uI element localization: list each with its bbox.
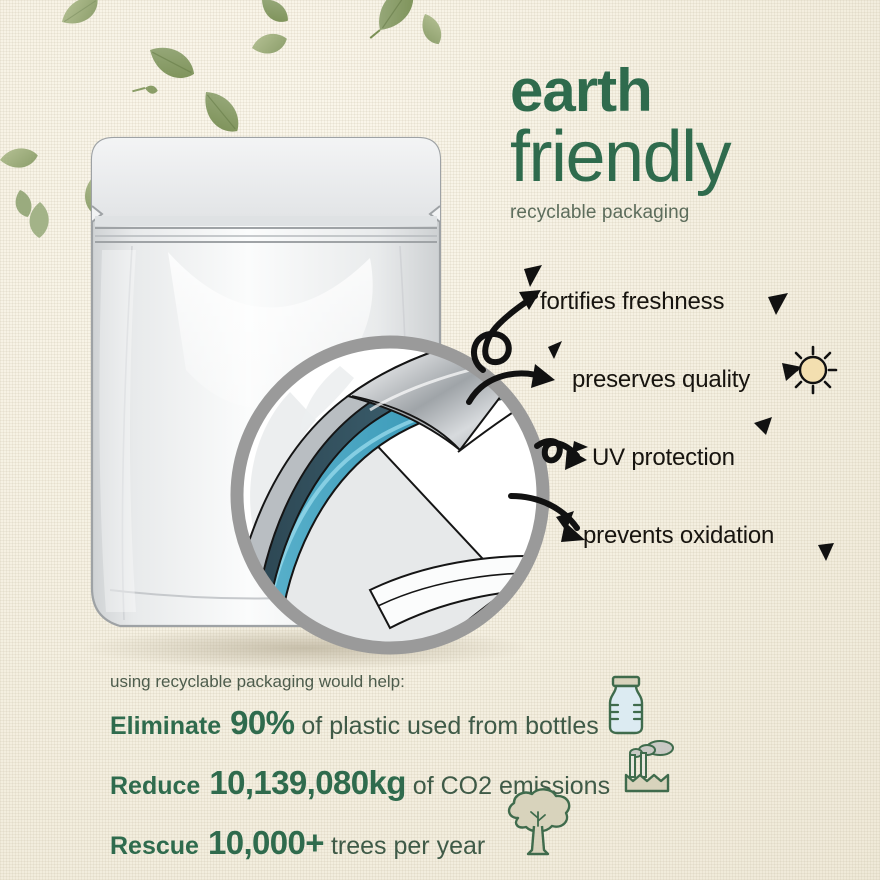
stat-number: 10,000+: [208, 824, 324, 862]
tick-mark: [818, 543, 834, 561]
subtitle: recyclable packaging: [510, 202, 870, 224]
stat-row: Rescue 10,000+ trees per year: [110, 824, 750, 862]
feature-label-preserves-quality: preserves quality: [572, 366, 750, 394]
sun-icon: [782, 342, 844, 404]
leaf-icon: [365, 0, 421, 48]
factory-icon: [616, 737, 682, 793]
stat-tail: trees per year: [331, 832, 485, 861]
leaf-icon: [0, 145, 39, 170]
tick-mark: [768, 293, 788, 315]
leaf-icon: [256, 0, 293, 27]
stat-verb: Reduce: [110, 772, 200, 801]
stat-number: 90%: [230, 704, 294, 742]
feature-label-prevents-oxidation: prevents oxidation: [583, 522, 774, 550]
stat-verb: Eliminate: [110, 712, 221, 741]
leaf-icon: [57, 0, 103, 32]
stats-lead: using recyclable packaging would help:: [110, 672, 750, 692]
feature-label-fortifies-freshness: fortifies freshness: [540, 288, 724, 316]
tree-icon: [498, 788, 578, 860]
infographic-poster: earth friendly recyclable packaging fort…: [0, 0, 880, 880]
stat-number: 10,139,080kg: [209, 764, 405, 802]
leaf-icon: [11, 188, 35, 220]
title-friendly: friendly: [510, 123, 870, 192]
leaf-icon: [144, 40, 200, 84]
feature-label-uv-protection: UV protection: [592, 444, 735, 472]
headline-block: earth friendly recyclable packaging: [510, 62, 870, 224]
stat-verb: Rescue: [110, 832, 199, 861]
leaf-icon: [132, 83, 158, 95]
stat-tail: of plastic used from bottles: [301, 712, 598, 741]
title-earth: earth: [510, 62, 870, 121]
leaf-icon: [416, 11, 446, 48]
leaf-icon: [250, 29, 290, 58]
tick-mark: [754, 417, 772, 435]
bottle-icon: [601, 674, 651, 736]
